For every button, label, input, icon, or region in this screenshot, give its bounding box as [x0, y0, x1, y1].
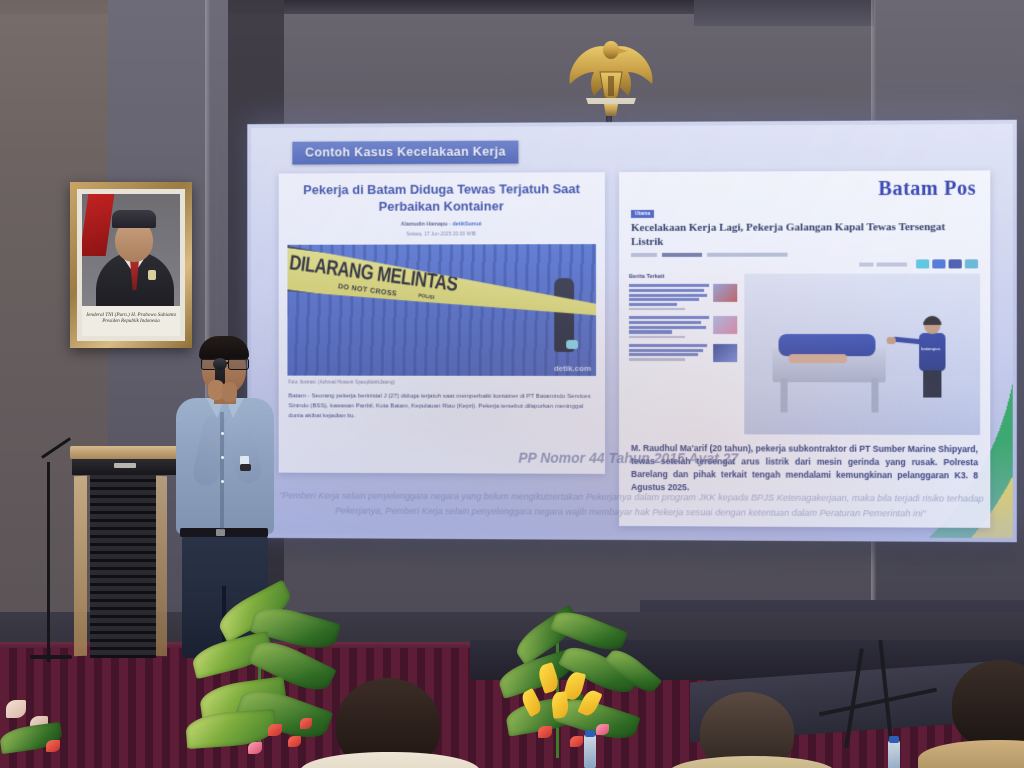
garuda-pancasila-icon [556, 26, 666, 126]
shirt-button [221, 432, 224, 435]
lectern-side-wood-left [74, 476, 87, 656]
portrait-caption-title: Presiden Republik Indonesia [82, 319, 180, 325]
microphone-stand-pole [47, 462, 50, 662]
water-bottle [888, 740, 900, 768]
portrait-medal [148, 270, 156, 280]
lectern [84, 446, 164, 660]
presenter-hair [199, 336, 249, 360]
lectern-top-surface [70, 446, 178, 459]
indonesian-flag-backdrop [82, 194, 114, 256]
presenter-shirt-placket [220, 412, 224, 530]
presenter-hand-right [222, 382, 237, 402]
portrait-photo: Jenderal TNI (Purn.) H. Prabowo Subianto… [82, 194, 180, 336]
portrait-caption-name: Jenderal TNI (Purn.) H. Prabowo Subianto [82, 312, 180, 319]
water-bottle-cap [585, 730, 595, 737]
lectern-name-plate [114, 463, 136, 468]
lectern-slatted-body [90, 474, 156, 658]
microphone-head [213, 358, 227, 370]
shirt-button [221, 456, 224, 459]
microphone-stand-base [30, 655, 72, 659]
peci-hat [112, 210, 156, 228]
portrait-caption: Jenderal TNI (Purn.) H. Prabowo Subianto… [82, 306, 180, 336]
seminar-photo-scene: Jenderal TNI (Purn.) H. Prabowo Subianto… [0, 0, 1024, 768]
framed-presidential-portrait: Jenderal TNI (Purn.) H. Prabowo Subianto… [70, 182, 192, 348]
water-bottle [584, 734, 596, 768]
projection-washout [247, 120, 1017, 542]
water-bottle-cap [889, 736, 899, 743]
presenter-belt-buckle [216, 529, 225, 536]
shirt-button [221, 480, 224, 483]
portrait-mat: Jenderal TNI (Purn.) H. Prabowo Subianto… [77, 189, 185, 341]
projection-screen: Contoh Kasus Kecelakaan Kerja Pekerja di… [247, 120, 1017, 542]
presenter-wristwatch [240, 464, 251, 471]
